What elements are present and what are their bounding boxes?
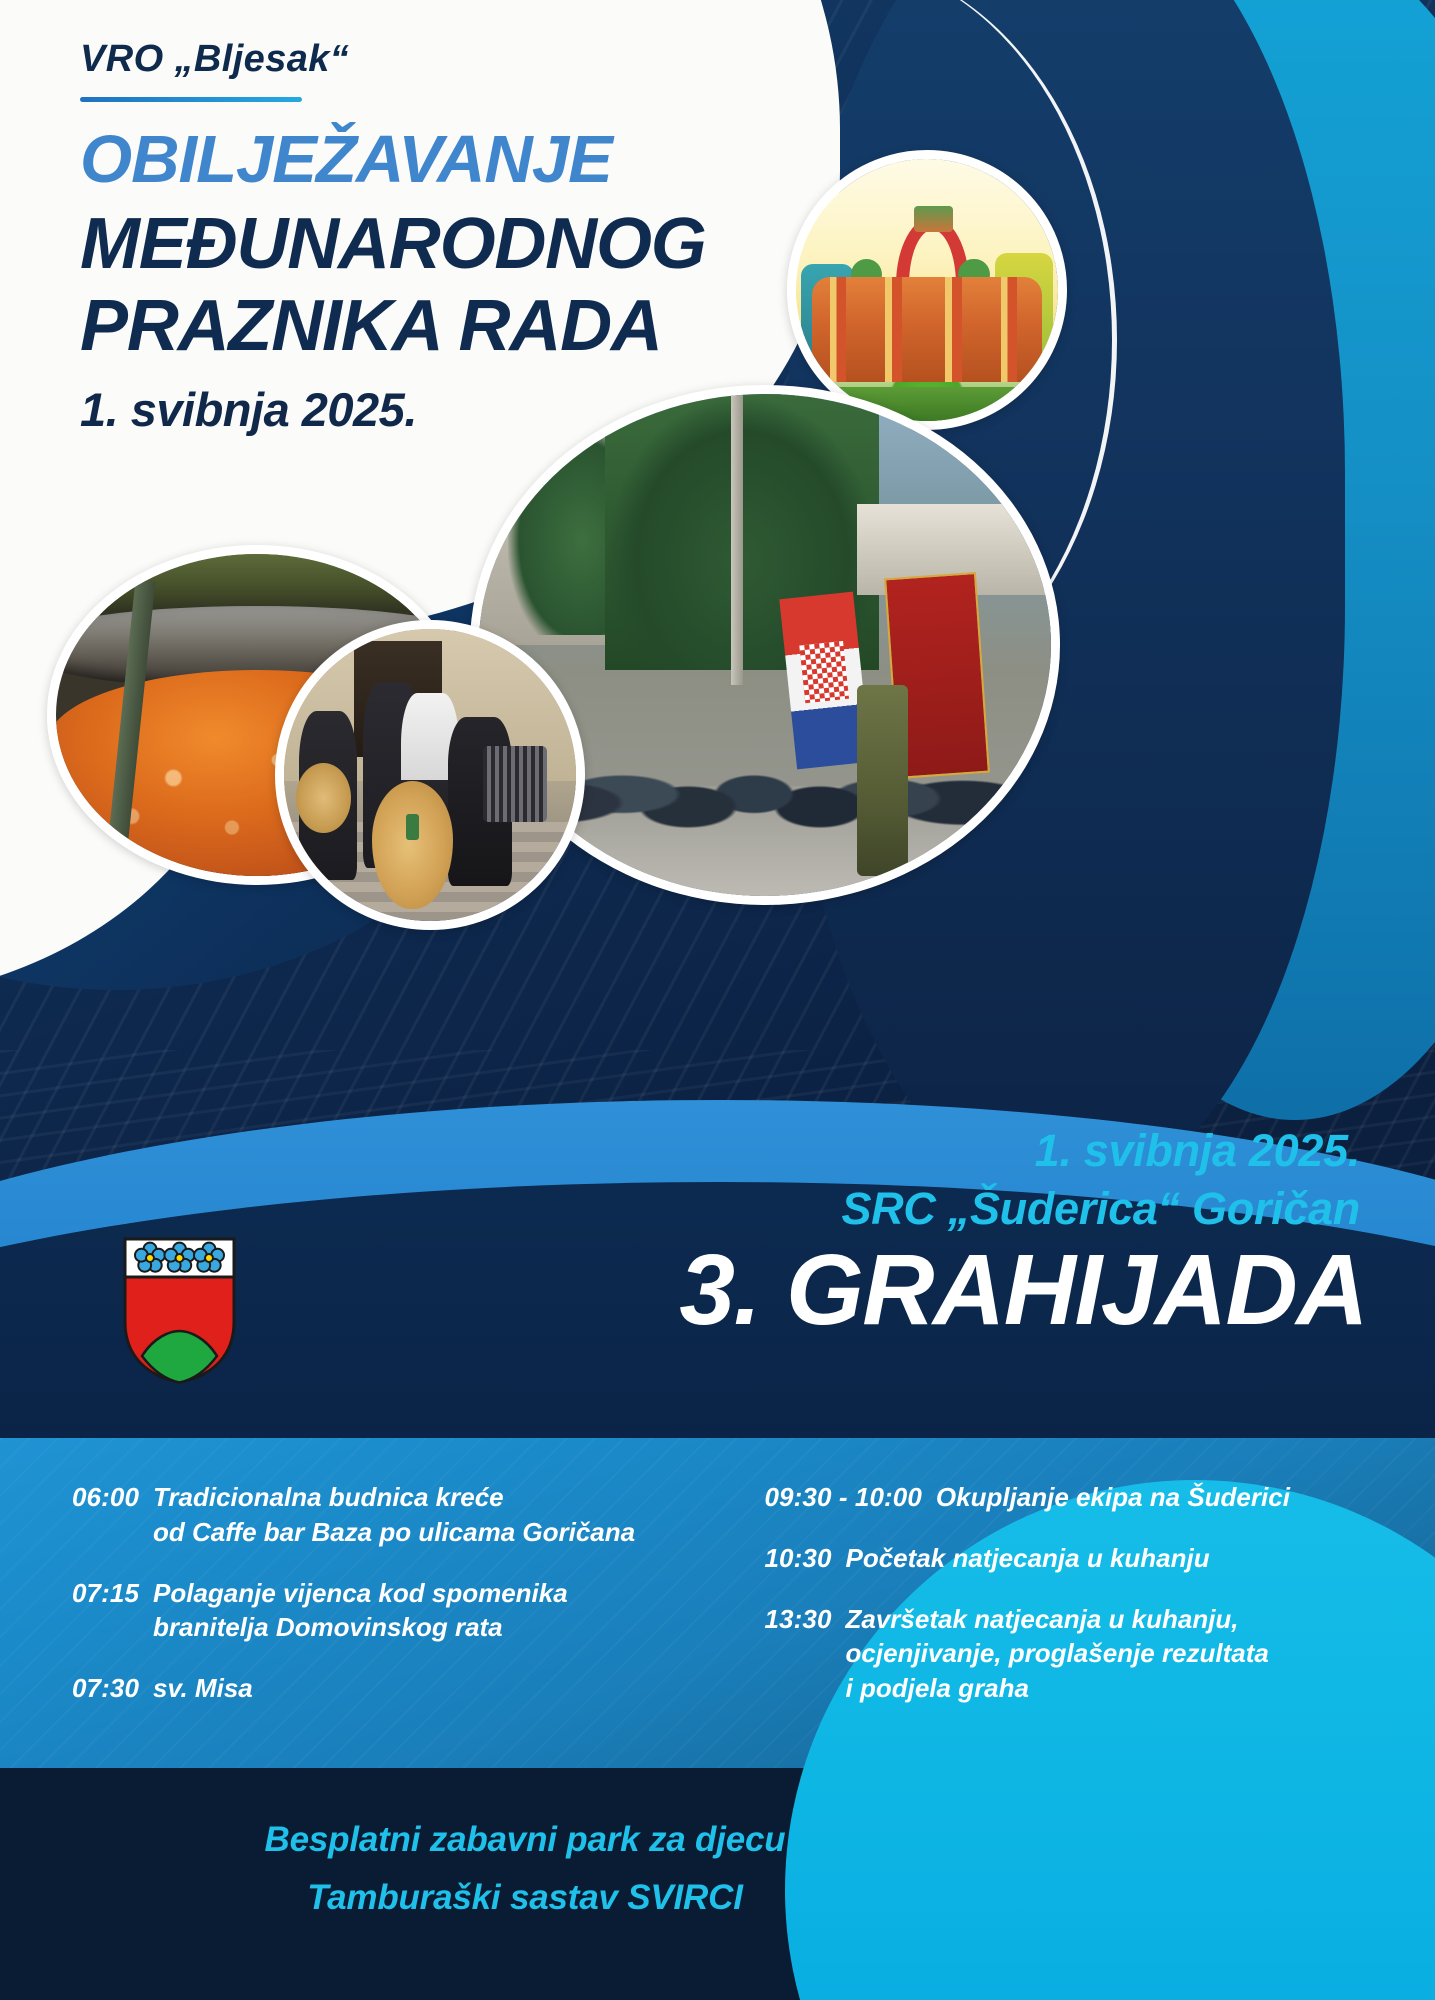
band-image [284,629,576,921]
inflatable-top-box [914,206,953,232]
schedule-line: od Caffe bar Baza po ulicama Goričana [153,1515,635,1550]
schedule-time: 13:30 [765,1602,846,1706]
schedule-line: Početak natjecanja u kuhanju [846,1541,1210,1576]
schedule-line: sv. Misa [153,1671,253,1706]
headline-accent-line: OBILJEŽAVANJE [80,128,780,192]
footer-block: Besplatni zabavni park za djecu Tamburaš… [0,1820,1050,1918]
event-location: SRC „Šuderica“ Goričan [841,1183,1360,1235]
footer-line-2: Tamburaški sastav SVIRCI [0,1878,1050,1918]
schedule-line: Tradicionalna budnica kreće [153,1480,635,1515]
schedule-item: 07:30 sv. Misa [72,1671,683,1706]
inflatable-stripe-1 [830,277,846,382]
schedule-line: i podjela graha [846,1671,1269,1706]
tamburica-band-photo [275,620,585,930]
coat-of-arms-icon [122,1236,237,1384]
event-title: 3. GRAHIJADA [679,1240,1367,1340]
inflatable-playground-image [796,159,1058,421]
footer-line-1: Besplatni zabavni park za djecu [0,1820,1050,1860]
goricán-coat-of-arms [122,1236,237,1384]
schedule-item: 07:15 Polaganje vijenca kod spomenika br… [72,1576,683,1646]
schedule-description: Polaganje vijenca kod spomenika branitel… [153,1576,568,1646]
headline-line-1: MEĐUNARODNOG [80,208,780,280]
schedule-description: Početak natjecanja u kuhanju [846,1541,1210,1576]
schedule-line: Polaganje vijenca kod spomenika [153,1576,568,1611]
schedule-time: 10:30 [765,1541,846,1576]
inflatable-playground-photo [787,150,1067,430]
accordion-instrument [483,746,547,822]
parade-soldier [857,685,908,876]
event-date: 1. svibnja 2025. [841,1125,1360,1177]
schedule-item: 13:30 Završetak natjecanja u kuhanju, oc… [765,1602,1376,1706]
schedule-item: 10:30 Početak natjecanja u kuhanju [765,1541,1376,1576]
schedule-line: Okupljanje ekipa na Šuderici [936,1480,1290,1515]
guitar-instrument [296,763,351,833]
schedule-description: Tradicionalna budnica kreće od Caffe bar… [153,1480,635,1550]
schedule-line: ocjenjivanje, proglašenje rezultata [846,1636,1269,1671]
schedule-time: 07:15 [72,1576,153,1646]
header-divider-rule [80,97,302,102]
inflatable-stripe-4 [1001,277,1017,382]
schedule-item: 06:00 Tradicionalna budnica kreće od Caf… [72,1480,683,1550]
header-date: 1. svibnja 2025. [80,382,780,437]
poster-root: VRO „Bljesak“ OBILJEŽAVANJE MEĐUNARODNOG… [0,0,1435,2000]
inflatable-stripe-3 [945,277,961,382]
schedule-column-right: 09:30 - 10:00 Okupljanje ekipa na Šuderi… [725,1480,1376,1768]
schedule-line: branitelja Domovinskog rata [153,1610,568,1645]
schedule-time: 06:00 [72,1480,153,1550]
parade-light-pole [731,394,744,685]
schedule-line: Završetak natjecanja u kuhanju, [846,1602,1269,1637]
header-block: VRO „Bljesak“ OBILJEŽAVANJE MEĐUNARODNOG… [80,38,780,437]
schedule-column-left: 06:00 Tradicionalna budnica kreće od Caf… [72,1480,683,1768]
schedule-time: 09:30 - 10:00 [765,1480,936,1515]
schedule-description: sv. Misa [153,1671,253,1706]
schedule-description: Završetak natjecanja u kuhanju, ocjenjiv… [846,1602,1269,1706]
headline-line-2: PRAZNIKA RADA [80,290,780,362]
pot-background-foliage [56,554,458,612]
organization-name: VRO „Bljesak“ [80,38,780,81]
inflatable-body [812,277,1043,382]
inflatable-stripe-2 [885,277,901,382]
schedule-item: 09:30 - 10:00 Okupljanje ekipa na Šuderi… [765,1480,1376,1515]
schedule-block: 06:00 Tradicionalna budnica kreće od Caf… [0,1438,1435,1768]
event-info-block: 1. svibnja 2025. SRC „Šuderica“ Goričan [841,1125,1360,1235]
schedule-time: 07:30 [72,1671,153,1706]
schedule-description: Okupljanje ekipa na Šuderici [936,1480,1290,1515]
